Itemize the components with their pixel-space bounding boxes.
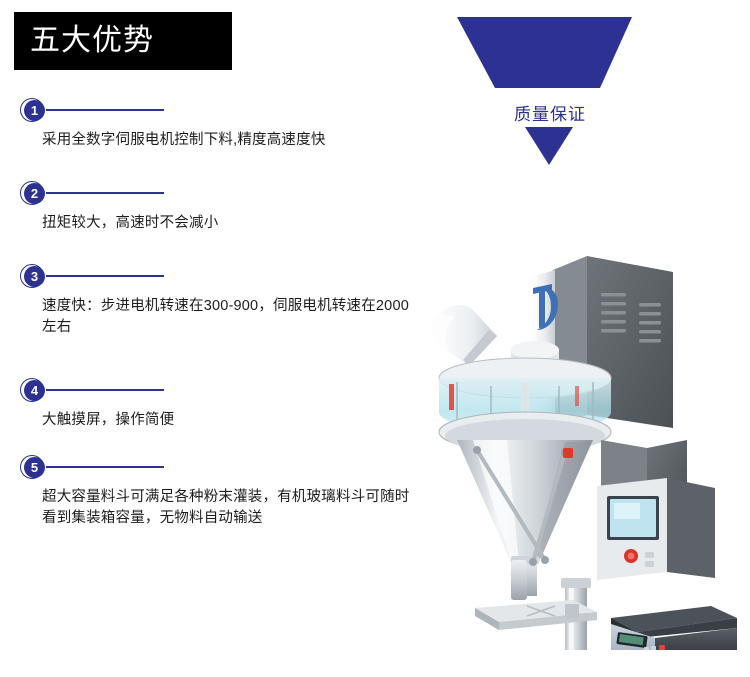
advantage-text-1: 采用全数字伺服电机控制下料,精度高速度快: [0, 130, 430, 151]
advantage-number-badge-2: 2: [20, 181, 46, 207]
advantage-number-2: 2: [24, 183, 45, 204]
advantages-list: 1 采用全数字伺服电机控制下料,精度高速度快 2 扭矩较大，高速时不会减小 3 …: [0, 98, 430, 535]
advantage-number-3: 3: [24, 266, 45, 287]
advantage-number-5: 5: [24, 457, 45, 478]
advantage-number-1: 1: [24, 100, 45, 121]
advantage-header-1: 1: [0, 98, 430, 124]
advantage-header-5: 5: [0, 455, 430, 481]
advantage-item-5: 5 超大容量料斗可满足各种粉末灌装，有机玻璃料斗可随时看到集装箱容量，无物料自动…: [0, 455, 430, 529]
advantage-item-3: 3 速度快：步进电机转速在300-900，伺服电机转速在2000左右: [0, 264, 430, 338]
page-title: 五大优势: [30, 26, 154, 56]
advantage-rule-2: [46, 192, 164, 194]
advantage-text-4: 大触摸屏，操作简便: [0, 410, 430, 431]
advantage-item-1: 1 采用全数字伺服电机控制下料,精度高速度快: [0, 98, 430, 151]
page-title-banner: 五大优势: [14, 12, 232, 70]
quality-badge-label: 质量保证: [440, 100, 660, 125]
advantage-number-badge-1: 1: [20, 98, 46, 124]
advantage-item-2: 2 扭矩较大，高速时不会减小: [0, 181, 430, 234]
advantage-text-2: 扭矩较大，高速时不会减小: [0, 213, 430, 234]
advantage-number-badge-3: 3: [20, 264, 46, 290]
down-arrow-icon: [440, 8, 660, 173]
feed-chute: [432, 305, 497, 366]
weighing-scale: [611, 606, 737, 650]
advantage-header-4: 4: [0, 378, 430, 404]
advantage-rule-5: [46, 466, 164, 468]
advantage-number-badge-5: 5: [20, 455, 46, 481]
powder-filling-machine-illustration: [415, 160, 750, 650]
advantage-text-3: 速度快：步进电机转速在300-900，伺服电机转速在2000左右: [0, 296, 430, 338]
red-knob-icon: [563, 448, 573, 458]
advantage-rule-1: [46, 109, 164, 111]
advantage-number-badge-4: 4: [20, 378, 46, 404]
advantage-header-2: 2: [0, 181, 430, 207]
outlet-tube: [511, 560, 527, 600]
advantage-text-5: 超大容量料斗可满足各种粉末灌装，有机玻璃料斗可随时看到集装箱容量，无物料自动输送: [0, 487, 430, 529]
advantage-rule-3: [46, 275, 164, 277]
advantage-header-3: 3: [0, 264, 430, 290]
advantage-item-4: 4 大触摸屏，操作简便: [0, 378, 430, 431]
quality-badge: 质量保证: [440, 8, 660, 173]
hmi-touch-panel: [597, 478, 715, 580]
advantage-number-4: 4: [24, 380, 45, 401]
advantage-rule-4: [46, 389, 164, 391]
machine-photo: [415, 160, 750, 650]
